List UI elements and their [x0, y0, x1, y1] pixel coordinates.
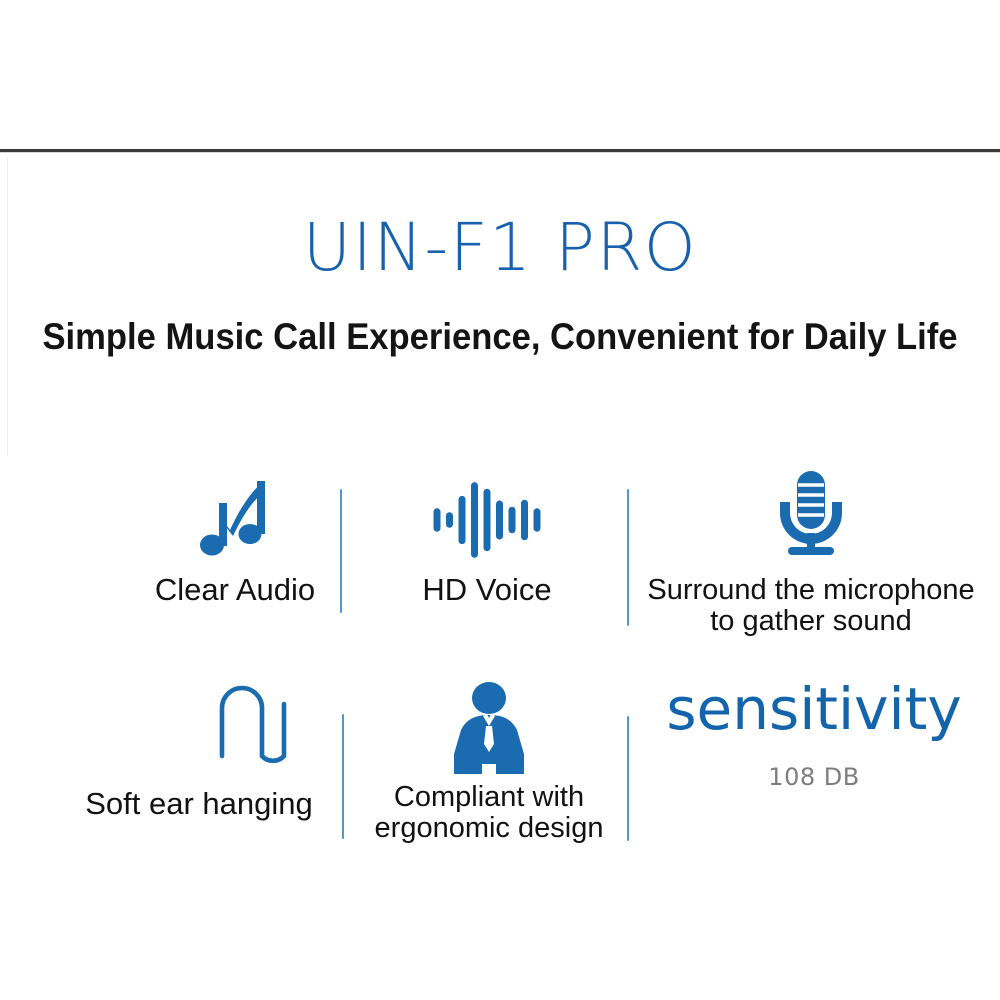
- feature-row-bottom: Soft ear hanging: [0, 680, 1000, 880]
- music-note-icon: [130, 473, 340, 559]
- feature-cell-hd-voice: HD Voice: [352, 455, 622, 655]
- product-tagline: Simple Music Call Experience, Convenient…: [33, 318, 968, 355]
- feature-cell-microphone: Surround the microphone to gather sound: [636, 455, 986, 655]
- waveform-bar: [496, 501, 503, 540]
- audio-waveform-icon: [352, 481, 622, 559]
- feature-cell-soft-ear-hanging: Soft ear hanging: [58, 680, 340, 880]
- sensitivity-value: 108 DB: [638, 765, 990, 789]
- microphone-icon: [636, 467, 986, 559]
- feature-label-soft-ear-hanging: Soft ear hanging: [58, 788, 340, 820]
- product-title: UIN-F1 PRO: [0, 215, 1000, 281]
- product-feature-panel: UIN-F1 PRO Simple Music Call Experience,…: [0, 0, 1000, 1000]
- waveform-bar: [434, 508, 441, 531]
- feature-row-top: Clear Audio HD Voice: [0, 455, 1000, 655]
- feature-label-clear-audio: Clear Audio: [130, 574, 340, 606]
- waveform-bar: [446, 512, 453, 528]
- column-divider-top-left: [340, 489, 342, 613]
- waveform-bar: [459, 496, 466, 544]
- feature-label-microphone: Surround the microphone to gather sound: [636, 575, 986, 636]
- column-divider-top-right: [627, 489, 629, 626]
- ear-hook-icon: [58, 682, 340, 774]
- left-edge-line: [7, 156, 8, 456]
- waveform-bar: [484, 489, 491, 551]
- waveform-bar: [471, 482, 478, 558]
- waveform-bar: [509, 507, 516, 534]
- businessman-icon: [356, 680, 622, 776]
- feature-cell-ergonomic-design: Compliant with ergonomic design: [356, 680, 622, 880]
- feature-label-hd-voice: HD Voice: [352, 574, 622, 606]
- waveform-bar: [521, 500, 528, 541]
- feature-grid: Clear Audio HD Voice: [0, 455, 1000, 875]
- sensitivity-block: sensitivity 108 DB: [638, 680, 990, 880]
- waveform-bar: [534, 508, 541, 531]
- feature-label-ergonomic-design: Compliant with ergonomic design: [356, 782, 622, 844]
- column-divider-bottom-right: [627, 716, 629, 841]
- column-divider-bottom-left: [342, 714, 344, 839]
- top-divider-rule-shadow: [0, 152, 1000, 153]
- sensitivity-title: sensitivity: [638, 680, 990, 738]
- feature-cell-clear-audio: Clear Audio: [130, 455, 340, 655]
